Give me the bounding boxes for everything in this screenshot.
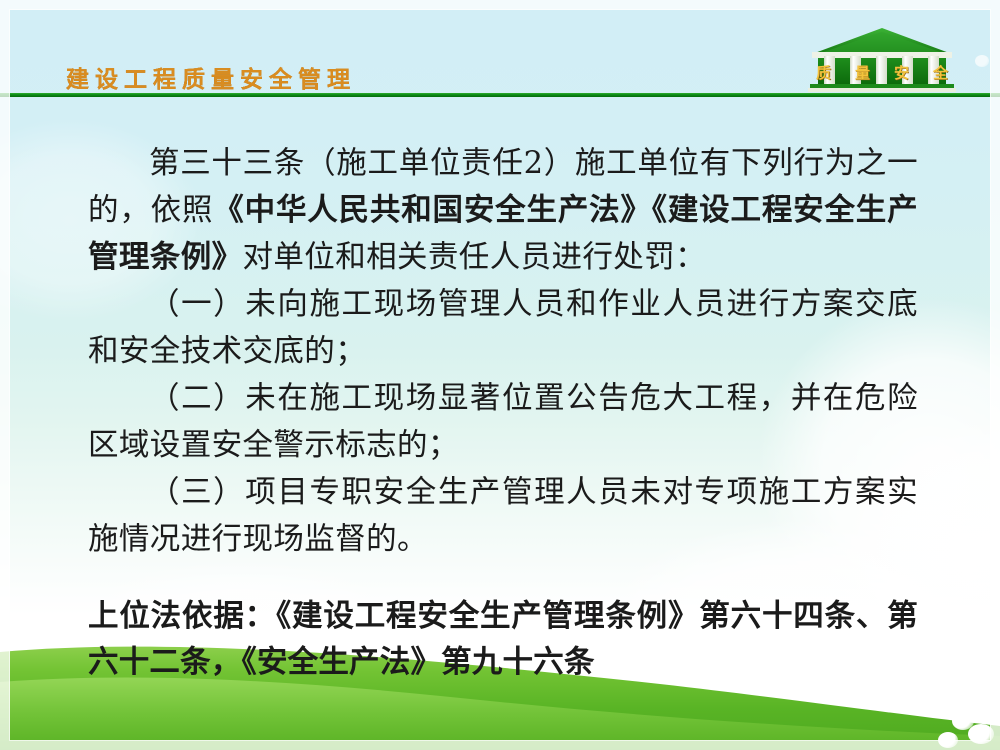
run-plain-2: 对单位和相关责任人员进行处罚： xyxy=(243,240,707,275)
paragraph-item-1: （一）未向施工现场管理人员和作业人员进行方案交底和安全技术交底的； xyxy=(88,281,918,375)
paragraph-item-2: （二）未在施工现场显著位置公告危大工程，并在危险区域设置安全警示标志的； xyxy=(88,375,918,469)
paragraph-legal-basis: 上位法依据：《建设工程安全生产管理条例》第六十四条、第六十二条，《安全生产法》第… xyxy=(88,593,918,685)
paragraph-article-33: 第三十三条（施工单位责任2）施工单位有下列行为之一的，依照《中华人民共和国安全生… xyxy=(88,140,918,281)
quality-safety-building-logo: 质 量 安 全 xyxy=(806,26,958,96)
page-title: 建设工程质量安全管理 xyxy=(66,60,356,94)
paragraph-item-3: （三）项目专职安全生产管理人员未对专项施工方案实施情况进行现场监督的。 xyxy=(88,469,918,563)
slide-body: 第三十三条（施工单位责任2）施工单位有下列行为之一的，依照《中华人民共和国安全生… xyxy=(88,140,918,685)
slide-canvas: 建设工程质量安全管理 xyxy=(0,0,1000,750)
